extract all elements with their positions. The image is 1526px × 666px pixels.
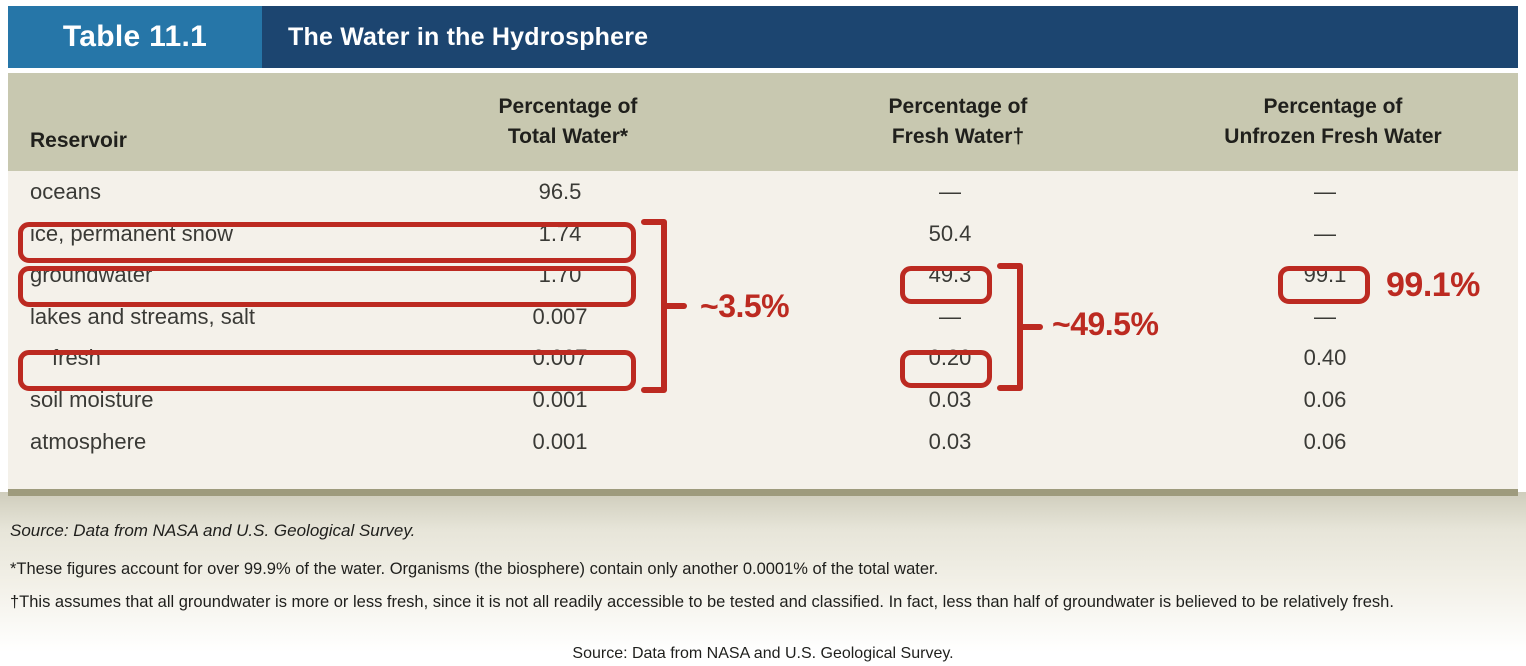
cell-reservoir: fresh: [52, 345, 101, 371]
cell-unfrozen-fresh-water: 0.40: [1140, 345, 1510, 371]
bottom-source-line: Source: Data from NASA and U.S. Geologic…: [0, 645, 1526, 663]
table-row: soil moisture 0.001 0.03 0.06: [8, 379, 1518, 421]
footnote-total-water: *These figures account for over 99.9% of…: [10, 557, 1510, 583]
cell-reservoir: oceans: [30, 179, 101, 205]
cell-reservoir: soil moisture: [30, 387, 153, 413]
cell-fresh-water: 49.3: [760, 262, 1140, 288]
column-header-fresh-water: Percentage of Fresh Water†: [768, 92, 1148, 153]
cell-unfrozen-fresh-water: 0.06: [1140, 387, 1510, 413]
cell-fresh-water: —: [760, 179, 1140, 205]
cell-unfrozen-fresh-water: 99.1: [1140, 262, 1510, 288]
table-caption-block: The Water in the Hydrosphere: [262, 6, 1518, 68]
cell-fresh-water: 0.20: [760, 345, 1140, 371]
cell-total-water: 0.007: [360, 304, 760, 330]
source-note: Source: Data from NASA and U.S. Geologic…: [10, 521, 415, 541]
cell-total-water: 1.70: [360, 262, 760, 288]
cell-fresh-water: —: [760, 304, 1140, 330]
cell-unfrozen-fresh-water: —: [1140, 179, 1510, 205]
table-title-bar: Table 11.1 The Water in the Hydrosphere: [8, 6, 1518, 68]
cell-fresh-water: 0.03: [760, 429, 1140, 455]
table-body: oceans 96.5 — — ice, permanent snow 1.74…: [8, 171, 1518, 489]
cell-unfrozen-fresh-water: —: [1140, 221, 1510, 247]
table-row: groundwater 1.70 49.3 99.1: [8, 254, 1518, 296]
cell-reservoir: groundwater: [30, 262, 152, 288]
column-header-reservoir-label: Reservoir: [30, 129, 127, 152]
cell-unfrozen-fresh-water: 0.06: [1140, 429, 1510, 455]
footnote-fresh-water: †This assumes that all groundwater is mo…: [10, 590, 1515, 616]
cell-total-water: 96.5: [360, 179, 760, 205]
table-bottom-rule: [8, 489, 1518, 496]
cell-reservoir: ice, permanent snow: [30, 221, 233, 247]
table-caption: The Water in the Hydrosphere: [288, 23, 648, 52]
table-header-row: Reservoir Percentage of Total Water* Per…: [8, 73, 1518, 171]
cell-reservoir: atmosphere: [30, 429, 146, 455]
column-header-total-water: Percentage of Total Water*: [368, 92, 768, 153]
column-header-total-water-line2: Total Water*: [368, 122, 768, 152]
cell-unfrozen-fresh-water: —: [1140, 304, 1510, 330]
column-header-reservoir: Reservoir: [30, 126, 127, 156]
column-header-unfrozen-line1: Percentage of: [1148, 92, 1518, 122]
table-row: ice, permanent snow 1.74 50.4 —: [8, 213, 1518, 255]
cell-reservoir: lakes and streams, salt: [30, 304, 255, 330]
column-header-unfrozen-fresh-water: Percentage of Unfrozen Fresh Water: [1148, 92, 1518, 153]
table-row: oceans 96.5 — —: [8, 171, 1518, 213]
cell-total-water: 0.007: [360, 345, 760, 371]
column-header-fresh-water-line2: Fresh Water†: [768, 122, 1148, 152]
cell-total-water: 0.001: [360, 429, 760, 455]
table-number: Table 11.1: [63, 20, 207, 54]
cell-fresh-water: 0.03: [760, 387, 1140, 413]
table-row: atmosphere 0.001 0.03 0.06: [8, 421, 1518, 463]
table-row: lakes and streams, salt 0.007 — —: [8, 296, 1518, 338]
cell-total-water: 0.001: [360, 387, 760, 413]
column-header-unfrozen-line2: Unfrozen Fresh Water: [1148, 122, 1518, 152]
column-header-total-water-line1: Percentage of: [368, 92, 768, 122]
table-figure: Table 11.1 The Water in the Hydrosphere …: [0, 0, 1526, 666]
column-header-fresh-water-line1: Percentage of: [768, 92, 1148, 122]
cell-fresh-water: 50.4: [760, 221, 1140, 247]
table-row: fresh 0.007 0.20 0.40: [8, 337, 1518, 379]
cell-total-water: 1.74: [360, 221, 760, 247]
table-number-block: Table 11.1: [8, 6, 262, 68]
